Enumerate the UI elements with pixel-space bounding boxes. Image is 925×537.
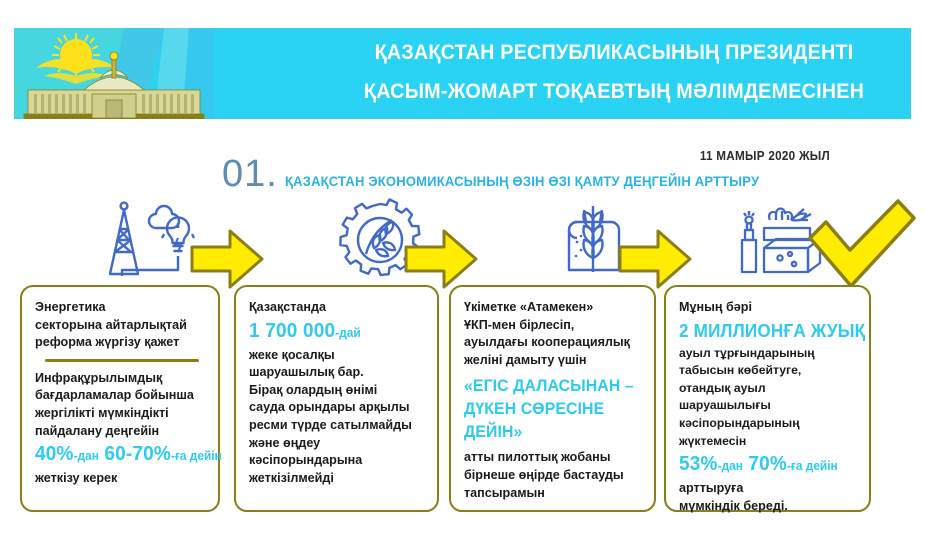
card-highlight: 40%-дан 60-70%-ға дейін bbox=[35, 442, 207, 469]
card-text: жеткізу керек bbox=[35, 470, 207, 488]
yellow-right-arrow bbox=[618, 228, 692, 290]
highlight-small: -ға дейін bbox=[171, 449, 222, 463]
highlight-big: 53% bbox=[679, 453, 718, 475]
card-energy-reform: Энергетика секторына айтарлықтай реформа… bbox=[20, 285, 220, 512]
card-divider bbox=[45, 359, 199, 362]
header-band: ҚАЗАҚСТАН РЕСПУБЛИКАСЫНЫҢ ПРЕЗИДЕНТІ ҚАС… bbox=[14, 28, 911, 119]
card-highlight: 2 МИЛЛИОНҒА ЖУЫҚ bbox=[679, 319, 858, 344]
highlight-small: -ға дейін bbox=[787, 459, 838, 473]
highlight-small: -дан bbox=[718, 459, 743, 473]
card-text: Үкіметке «Атамекен» ҰКП-мен бірлесіп, ау… bbox=[464, 299, 643, 369]
highlight-big: 60-70% bbox=[104, 443, 171, 465]
yellow-checkmark bbox=[806, 198, 918, 298]
highlight-big: 70% bbox=[748, 453, 787, 475]
card-quote: «ЕГІС ДАЛАСЫНАН – ДҮКЕН СӨРЕСІНЕ ДЕЙІН» bbox=[464, 375, 636, 444]
header-title-line2: ҚАСЫМ-ЖОМАРТ ТОҚАЕВТЫҢ МӘЛІМДЕМЕСІНЕН bbox=[347, 72, 881, 111]
card-highlight: 1 700 000-дай bbox=[249, 319, 426, 346]
card-text: Қазақстанда bbox=[249, 299, 426, 317]
header-title: ҚАЗАҚСТАН РЕСПУБЛИКАСЫНЫҢ ПРЕЗИДЕНТІ ҚАС… bbox=[347, 33, 881, 111]
oil-derrick-lightbulb-icon bbox=[98, 196, 198, 282]
highlight-small: -дай bbox=[335, 326, 360, 340]
card-highlight: 53%-дан 70%-ға дейін bbox=[679, 452, 858, 479]
header-title-line1: ҚАЗАҚСТАН РЕСПУБЛИКАСЫНЫҢ ПРЕЗИДЕНТІ bbox=[347, 33, 881, 72]
highlight-big: 1 700 000 bbox=[249, 320, 335, 342]
card-text: жеке қосалқы шаруашылық бар. Бірақ олард… bbox=[249, 347, 426, 488]
kazakhstan-flag-with-akorda-palace bbox=[14, 28, 214, 119]
highlight-big: 40% bbox=[35, 443, 74, 465]
card-expected-result: Мұның бәрі 2 МИЛЛИОНҒА ЖУЫҚ ауыл тұрғынд… bbox=[664, 285, 871, 512]
header-banner: ҚАЗАҚСТАН РЕСПУБЛИКАСЫНЫҢ ПРЕЗИДЕНТІ ҚАС… bbox=[0, 28, 925, 119]
card-text: атты пилоттық жобаны бірнеше өңірде баст… bbox=[464, 449, 643, 502]
card-text: арттыруға мүмкіндік береді. bbox=[679, 480, 858, 515]
section-heading: 01. ҚАЗАҚСТАН ЭКОНОМИКАСЫНЫҢ ӨЗІН ӨЗІ ҚА… bbox=[222, 157, 795, 191]
card-text: Энергетика секторына айтарлықтай реформа… bbox=[35, 299, 207, 352]
yellow-right-arrow bbox=[404, 228, 478, 290]
card-text: ауыл тұрғындарының табысын көбейтуге, от… bbox=[679, 345, 858, 451]
highlight-small: -дан bbox=[74, 449, 99, 463]
card-text: Инфрақұрылымдық бағдарламалар бойынша же… bbox=[35, 370, 207, 440]
card-household-farms: Қазақстанда 1 700 000-дай жеке қосалқы ш… bbox=[234, 285, 439, 512]
section-number: 01. bbox=[222, 157, 278, 191]
card-text: Мұның бәрі bbox=[679, 299, 858, 317]
yellow-right-arrow bbox=[190, 228, 264, 290]
card-pilot-project: Үкіметке «Атамекен» ҰКП-мен бірлесіп, ау… bbox=[449, 285, 656, 512]
highlight-big: 2 МИЛЛИОНҒА ЖУЫҚ bbox=[679, 321, 865, 341]
section-label: ҚАЗАҚСТАН ЭКОНОМИКАСЫНЫҢ ӨЗІН ӨЗІ ҚАМТУ … bbox=[285, 173, 759, 189]
